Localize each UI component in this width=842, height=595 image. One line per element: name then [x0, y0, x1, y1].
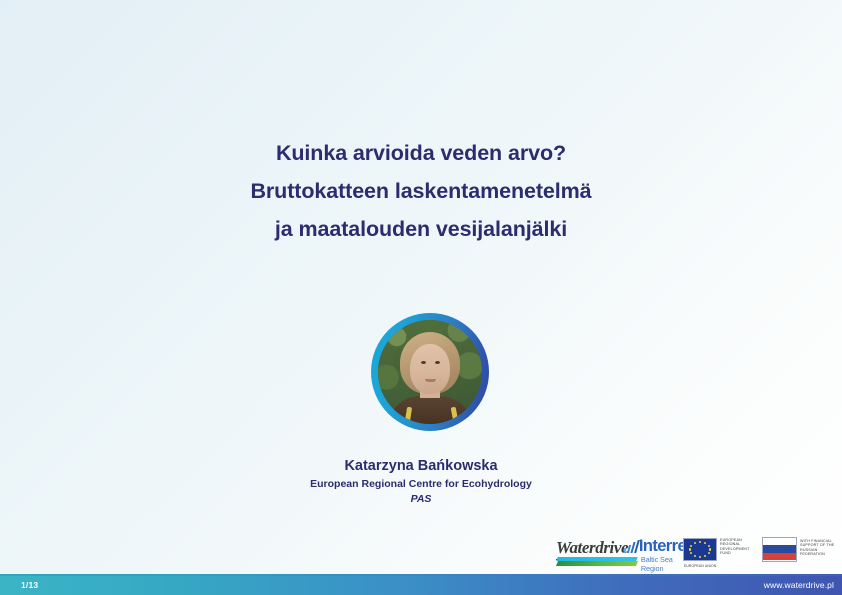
eu-star: [699, 556, 701, 558]
eu-star: [694, 555, 696, 557]
eu-star: [704, 542, 706, 544]
eu-star: [709, 548, 711, 550]
eu-union-caption: EUROPEAN UNION: [684, 564, 724, 568]
eu-star: [708, 552, 710, 554]
presenter-info: Katarzyna Bańkowska European Regional Ce…: [0, 457, 842, 507]
flag-stripe-white: [763, 538, 796, 546]
eu-star: [699, 541, 701, 543]
photo-mouth: [425, 379, 436, 382]
photo-eye-right: [435, 361, 440, 364]
sponsor-logo-strip: Waterdrive Interreg Baltic Sea Region: [556, 533, 838, 573]
interreg-logo: Interreg Baltic Sea Region: [624, 536, 675, 570]
flag-stripe-red: [763, 553, 796, 561]
title-line-3: ja maatalouden vesijalanjälki: [0, 210, 842, 248]
eu-star: [694, 542, 696, 544]
presenter-name: Katarzyna Bańkowska: [0, 457, 842, 476]
photo-eye-left: [421, 361, 426, 364]
avatar-photo: [378, 320, 482, 424]
slide-footer: 1/13 www.waterdrive.pl: [0, 576, 842, 595]
russia-funding-logo: WITH FINANCIAL SUPPORT OF THE RUSSIAN FE…: [762, 536, 838, 571]
presenter-organization: PAS: [0, 492, 842, 507]
eu-star: [704, 555, 706, 557]
footer-url[interactable]: www.waterdrive.pl: [764, 580, 834, 590]
eu-star: [689, 548, 691, 550]
eu-star: [708, 545, 710, 547]
presenter-avatar: [371, 313, 489, 431]
title-line-2: Bruttokatteen laskentamenetelmä: [0, 172, 842, 210]
waterdrive-logo: Waterdrive: [556, 536, 616, 570]
eu-star: [690, 545, 692, 547]
presentation-slide: Kuinka arvioida veden arvo? Bruttokattee…: [0, 0, 842, 595]
page-indicator: 1/13: [21, 580, 38, 590]
russia-support-caption: WITH FINANCIAL SUPPORT OF THE RUSSIAN FE…: [800, 537, 838, 557]
interreg-subtitle: Baltic Sea Region: [641, 555, 675, 573]
photo-face: [410, 344, 450, 394]
russia-flag-icon: [762, 537, 797, 562]
eu-funding-logo: EUROPEAN UNION EUROPEAN REGIONAL DEVELOP…: [683, 535, 754, 572]
eu-fund-caption: EUROPEAN REGIONAL DEVELOPMENT FUND: [720, 538, 754, 556]
eu-flag-icon: EUROPEAN UNION: [683, 538, 717, 561]
presenter-affiliation: European Regional Centre for Ecohydrolog…: [0, 476, 842, 492]
eu-star: [690, 552, 692, 554]
flag-stripe-blue: [763, 545, 796, 553]
title-line-1: Kuinka arvioida veden arvo?: [0, 134, 842, 172]
slide-title: Kuinka arvioida veden arvo? Bruttokattee…: [0, 134, 842, 248]
